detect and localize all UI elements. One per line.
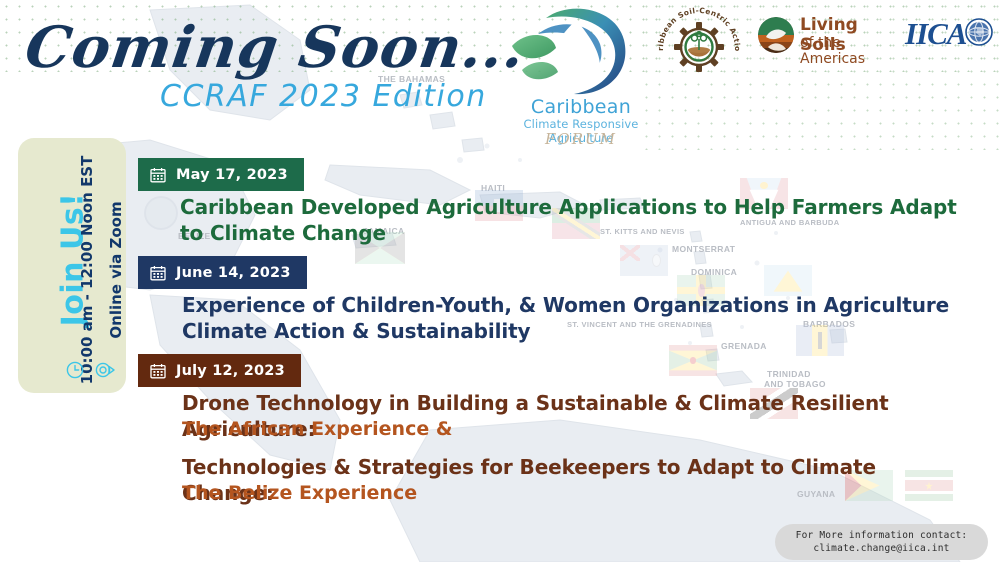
session-subtitle-4: The Belize Experience (182, 480, 782, 506)
join-us-time: 10:00 am - 12:00 Noon EST (78, 152, 96, 388)
ccraf-logo-line1: Caribbean (496, 96, 666, 118)
ccraf-logo: Caribbean Climate Responsive Agriculture… (496, 4, 666, 146)
soil-layers-circle-logo-icon (758, 17, 794, 53)
join-us-platform: Online via Zoom (107, 152, 125, 388)
session-title-2: Experience of Children-Youth, & Women Or… (182, 292, 962, 344)
page-title-coming-soon: Coming Soon... (21, 14, 529, 81)
ccraf-logo-line3: FORUM (496, 130, 666, 148)
calendar-icon (150, 265, 166, 281)
poster-canvas: THE BAHAMASHAITIBELIZEJAMAICAST. KITTS A… (0, 0, 1000, 562)
date-label-session-2: June 14, 2023 (176, 265, 291, 281)
globe-seal-logo-icon (965, 18, 993, 46)
date-badge-session-1[interactable]: May 17, 2023 (138, 158, 304, 191)
map-label-dominica: DOMINICA (691, 267, 737, 277)
date-badge-session-3[interactable]: July 12, 2023 (138, 354, 301, 387)
flag-belize (144, 196, 178, 230)
iica-logo: IICA (905, 16, 991, 54)
water-drop-leaf-logo-icon (508, 4, 638, 100)
clock-icon (66, 361, 84, 384)
contact-info-box: For More information contact: climate.ch… (775, 524, 988, 560)
flag-grenada (669, 345, 717, 376)
living-soils-line2: of the Americas (800, 35, 898, 67)
join-us-panel: Join Us! 10:00 am - 12:00 Noon EST Onlin… (18, 138, 126, 393)
map-label-and-tobago: AND TOBAGO (764, 379, 826, 389)
date-label-session-1: May 17, 2023 (176, 167, 288, 183)
calendar-icon (150, 167, 166, 183)
date-badge-session-2[interactable]: June 14, 2023 (138, 256, 307, 289)
soil-centric-actions-logo: Caribbean Soil-Centric Actions (653, 5, 745, 77)
living-soils-logo: Living Soils of the Americas (758, 14, 898, 58)
map-label-trinidad: TRINIDAD (767, 369, 811, 379)
session-subtitle-3: The African Experience & (182, 416, 782, 442)
map-label-haiti: HAITI (481, 183, 505, 193)
iica-wordmark: IICA (905, 16, 966, 52)
calendar-icon (150, 363, 166, 379)
webcam-icon (95, 361, 115, 384)
flag-montserrat (620, 245, 668, 276)
contact-line1: For More information contact: (796, 529, 968, 542)
session-title-1: Caribbean Developed Agriculture Applicat… (180, 194, 970, 246)
page-subtitle-edition: CCRAF 2023 Edition (160, 79, 487, 114)
contact-email[interactable]: climate.change@iica.int (813, 542, 949, 555)
date-label-session-3: July 12, 2023 (176, 363, 285, 379)
